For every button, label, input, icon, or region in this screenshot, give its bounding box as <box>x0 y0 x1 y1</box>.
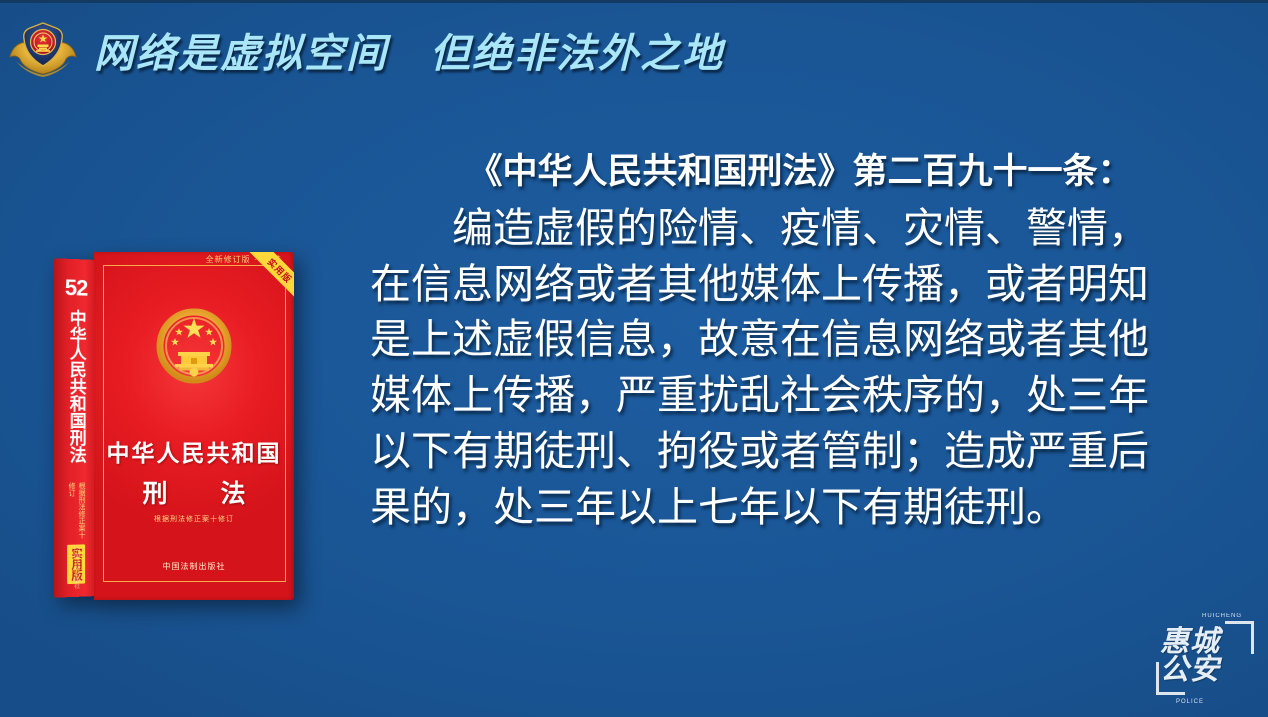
book-spine-publisher: 中国法制出版社 <box>72 546 81 589</box>
watermark-text-line2: 公安 <box>1160 655 1248 683</box>
header-banner: 网络是虚拟空间 但绝非法外之地 <box>0 3 1268 97</box>
book-cover-title-line1: 中华人民共和国 <box>94 434 294 468</box>
watermark-tiny-top-text: HUICHENG <box>1202 613 1242 619</box>
book-front-cover: 全新修订版 · 刑 法 实用版 <box>94 252 294 600</box>
law-body-line: 果的，处三年以上七年以下有期徒刑。 <box>370 480 1230 536</box>
national-emblem-icon <box>148 300 240 392</box>
law-body-line: 编造虚假的险情、疫情、灾情、警情， <box>370 201 1230 257</box>
law-article-body: 编造虚假的险情、疫情、灾情、警情， 在信息网络或者其他媒体上传播，或者明知 是上… <box>370 201 1230 536</box>
book-cover-title-line2: 刑 法 <box>94 474 294 510</box>
slide-canvas: 网络是虚拟空间 但绝非法外之地 52 中华人民共和国刑法 根据刑法修正案十修订 … <box>0 0 1268 717</box>
book-spine-subtitle: 根据刑法修正案十修订 <box>66 482 86 541</box>
criminal-law-book-image: 52 中华人民共和国刑法 根据刑法修正案十修订 实用版 中国法制出版社 全新修订… <box>46 248 326 618</box>
law-article-heading: 《中华人民共和国刑法》第二百九十一条： <box>370 150 1230 195</box>
watermark-tiny-bottom-text: POLICE <box>1176 699 1204 705</box>
law-article-block: 《中华人民共和国刑法》第二百九十一条： 编造虚假的险情、疫情、灾情、警情， 在信… <box>370 150 1230 535</box>
watermark-text: 惠城 公安 <box>1160 627 1248 684</box>
law-body-line: 在信息网络或者其他媒体上传播，或者明知 <box>370 257 1230 313</box>
law-body-line: 媒体上传播，严重扰乱社会秩序的，处三年 <box>370 368 1230 424</box>
book-spine-number: 52 <box>65 275 87 302</box>
watermark-text-line1: 惠城 <box>1160 627 1248 655</box>
book-spine-title: 中华人民共和国刑法 <box>67 309 84 480</box>
law-body-line: 以下有期徒刑、拘役或者管制；造成严重后 <box>370 424 1230 480</box>
police-badge-icon <box>6 17 80 83</box>
book-cover-publisher: 中国法制出版社 <box>94 561 294 572</box>
book-spine: 52 中华人民共和国刑法 根据刑法修正案十修订 实用版 中国法制出版社 <box>54 258 98 597</box>
huicheng-police-watermark: HUICHENG 惠城 公安 POLICE <box>1150 607 1258 707</box>
book-cover-subtitle: 根据刑法修正案十修订 <box>94 514 294 524</box>
header-slogan: 网络是虚拟空间 但绝非法外之地 <box>94 21 724 79</box>
law-body-line: 是上述虚假信息，故意在信息网络或者其他 <box>370 312 1230 368</box>
